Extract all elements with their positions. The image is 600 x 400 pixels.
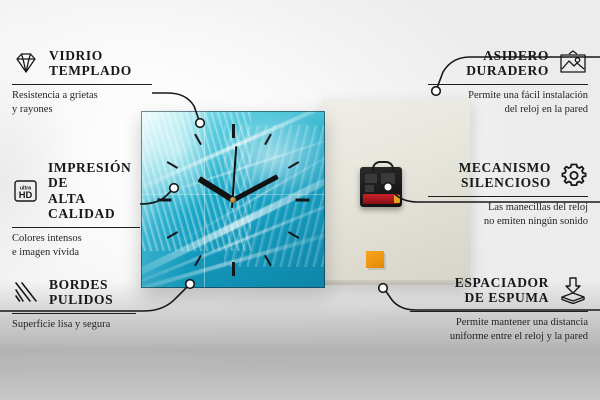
clock-tick (232, 262, 235, 276)
callout-title-line1: ASIDERO (466, 48, 549, 63)
callout-desc-line1: Superficie lisa y segura (12, 318, 142, 332)
surface-shading-lower (0, 342, 600, 400)
foam-spacer (366, 251, 384, 268)
callout-desc-line1: Permite mantener una distancia (410, 316, 588, 330)
callout-title-line2: TEMPLADO (49, 63, 132, 78)
ultra-hd-icon-bottom: HD (19, 189, 33, 200)
product-infographic: VIDRIO TEMPLADO Resistencia a grietas y … (0, 0, 600, 400)
callout-title: BORDES PULIDOS (49, 277, 113, 308)
glass-wall-clock (141, 111, 325, 288)
callout-rule (428, 196, 588, 198)
callout-desc-line1: Las manecillas del reloj (428, 201, 588, 215)
callout-espaciador-de-espuma: ESPACIADOR DE ESPUMA Permite mantener un… (410, 275, 588, 344)
callout-vidrio-templado: VIDRIO TEMPLADO Resistencia a grietas y … (12, 48, 152, 117)
callout-impresion-alta-calidad: ultra HD IMPRESIÓN DE ALTA CALIDAD Color… (12, 160, 140, 259)
hanger-icon (372, 161, 394, 172)
callout-desc-line1: Resistencia a grietas (12, 89, 152, 103)
clock-tick (296, 198, 310, 201)
clock-center-cap (230, 197, 236, 203)
callout-head: ultra HD IMPRESIÓN DE ALTA CALIDAD (12, 160, 140, 222)
callout-head: VIDRIO TEMPLADO (12, 48, 152, 79)
callout-rule (410, 311, 588, 313)
ultra-hd-icon: ultra HD (12, 178, 39, 204)
callout-title: ESPACIADOR DE ESPUMA (455, 275, 549, 306)
callout-mecanismo-silencioso: MECANISMO SILENCIOSO Las manecillas del … (428, 160, 588, 229)
polished-edges-icon (12, 280, 40, 304)
callout-desc: Permite una fácil instalación del reloj … (428, 89, 588, 116)
callout-title-line1: IMPRESIÓN DE (48, 160, 140, 191)
movement-detail (365, 174, 377, 183)
callout-head: ESPACIADOR DE ESPUMA (410, 275, 588, 306)
callout-desc-line2: e imagen vívida (12, 246, 140, 260)
callout-desc-line2: del reloj en la pared (428, 103, 588, 117)
callout-desc-line2: y rayones (12, 103, 152, 117)
callout-title-line2: DURADERO (466, 63, 549, 78)
callout-rule (428, 84, 588, 86)
callout-rule (12, 227, 140, 229)
callout-title-line2: ALTA CALIDAD (48, 191, 140, 222)
quartz-movement (360, 167, 402, 207)
gear-icon (560, 162, 588, 189)
callout-desc-line1: Colores intensos (12, 232, 140, 246)
callout-desc-line2: no emiten ningún sonido (428, 215, 588, 229)
callout-rule (12, 84, 152, 86)
wall-hanger-frame-icon (558, 50, 588, 76)
callout-title: MECANISMO SILENCIOSO (459, 160, 551, 191)
callout-head: ASIDERO DURADERO (428, 48, 588, 79)
clock-tick (158, 198, 172, 201)
movement-detail (381, 173, 395, 184)
battery-terminal (394, 195, 400, 203)
callout-desc: Superficie lisa y segura (12, 318, 142, 332)
callout-desc: Las manecillas del reloj no emiten ningú… (428, 201, 588, 228)
callout-desc: Resistencia a grietas y rayones (12, 89, 152, 116)
clock-tick (232, 124, 235, 138)
callout-title-line2: SILENCIOSO (459, 175, 551, 190)
callout-desc: Colores intensos e imagen vívida (12, 232, 140, 259)
callout-head: MECANISMO SILENCIOSO (428, 160, 588, 191)
callout-title: IMPRESIÓN DE ALTA CALIDAD (48, 160, 140, 222)
callout-title-line1: MECANISMO (459, 160, 551, 175)
callout-asidero-duradero: ASIDERO DURADERO Permite una fácil insta… (428, 48, 588, 117)
callout-title-line2: PULIDOS (49, 292, 113, 307)
callout-title: VIDRIO TEMPLADO (49, 48, 132, 79)
callout-desc-line1: Permite una fácil instalación (428, 89, 588, 103)
callout-desc: Permite mantener una distancia uniforme … (410, 316, 588, 343)
callout-title-line1: VIDRIO (49, 48, 132, 63)
callout-title-line1: BORDES (49, 277, 113, 292)
callout-head: BORDES PULIDOS (12, 277, 142, 308)
callout-desc-line2: uniforme entre el reloj y la pared (410, 330, 588, 344)
foam-spacer-icon (558, 276, 588, 304)
callout-rule (12, 313, 136, 315)
diamond-icon (12, 51, 40, 75)
callout-title-line1: ESPACIADOR (455, 275, 549, 290)
callout-bordes-pulidos: BORDES PULIDOS Superficie lisa y segura (12, 277, 142, 332)
movement-detail (365, 185, 374, 192)
callout-title: ASIDERO DURADERO (466, 48, 549, 79)
callout-title-line2: DE ESPUMA (455, 290, 549, 305)
